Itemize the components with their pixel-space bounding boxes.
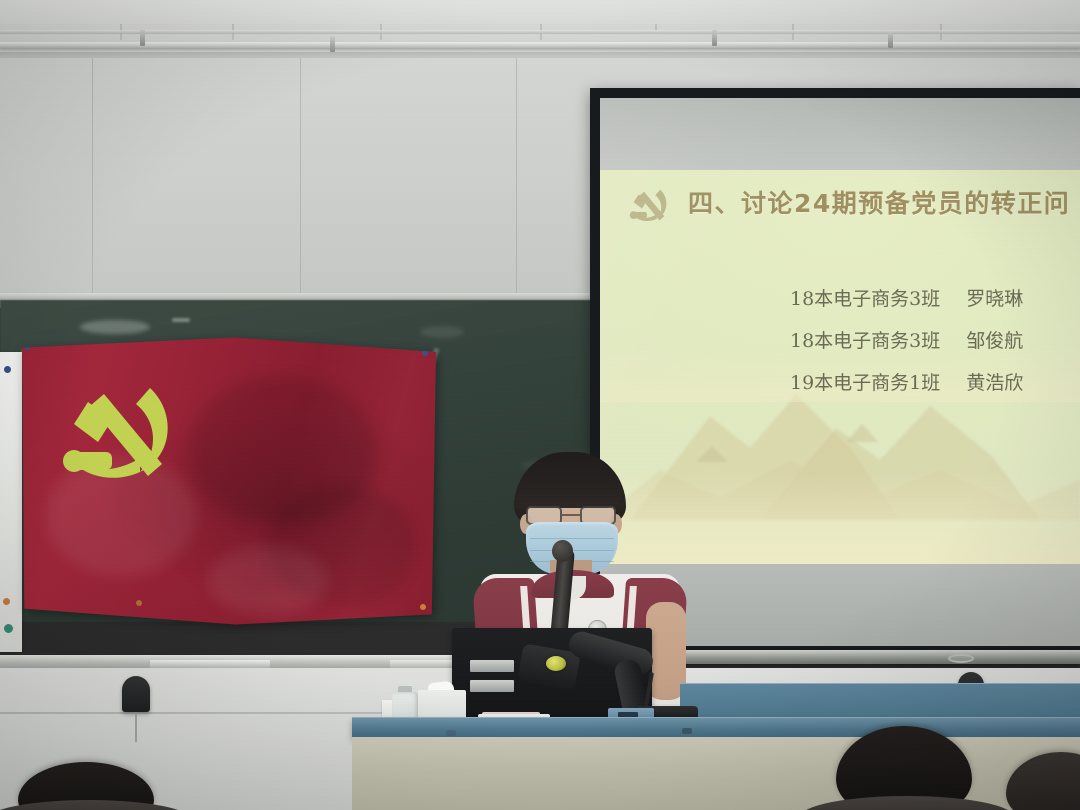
speaker-wire bbox=[135, 712, 137, 742]
ceiling-rail bbox=[0, 42, 1080, 49]
slide-line-name: 罗晓琳 bbox=[966, 288, 1023, 310]
ceiling bbox=[0, 0, 1080, 62]
slide-line-class: 18本电子商务3班 bbox=[790, 330, 940, 352]
classroom-photo: 四、讨论24期预备党员的转正问 18本电子商务3班罗晓琳 18本电子商务3班邹俊… bbox=[0, 0, 1080, 810]
screen-pull-knob bbox=[948, 654, 974, 663]
slide-line-class: 18本电子商务3班 bbox=[790, 288, 940, 310]
slide-line-item: 18本电子商务3班罗晓琳 bbox=[790, 278, 1023, 320]
slide-body-list: 18本电子商务3班罗晓琳 18本电子商务3班邹俊航 19本电子商务1班黄浩欣 bbox=[790, 278, 1023, 404]
slide-line-name: 黄浩欣 bbox=[966, 372, 1023, 394]
slide-line-class: 19本电子商务1班 bbox=[790, 372, 940, 394]
document-camera-lens bbox=[546, 656, 566, 671]
fringe bbox=[518, 474, 622, 508]
screen-top-band bbox=[600, 98, 1080, 170]
slide-title: 四、讨论24期预备党员的转正问 bbox=[688, 184, 1070, 220]
slide-line-name: 邹俊航 bbox=[966, 330, 1023, 352]
lectern-surface bbox=[352, 718, 1080, 738]
wall-speaker bbox=[122, 676, 150, 712]
communist-party-flag bbox=[18, 336, 436, 626]
hammer-and-sickle-emblem bbox=[54, 372, 182, 492]
slide-line-item: 19本电子商务1班黄浩欣 bbox=[790, 362, 1023, 404]
slide-line-item: 18本电子商务3班邹俊航 bbox=[790, 320, 1023, 362]
slide-hammer-sickle-icon bbox=[626, 184, 672, 226]
